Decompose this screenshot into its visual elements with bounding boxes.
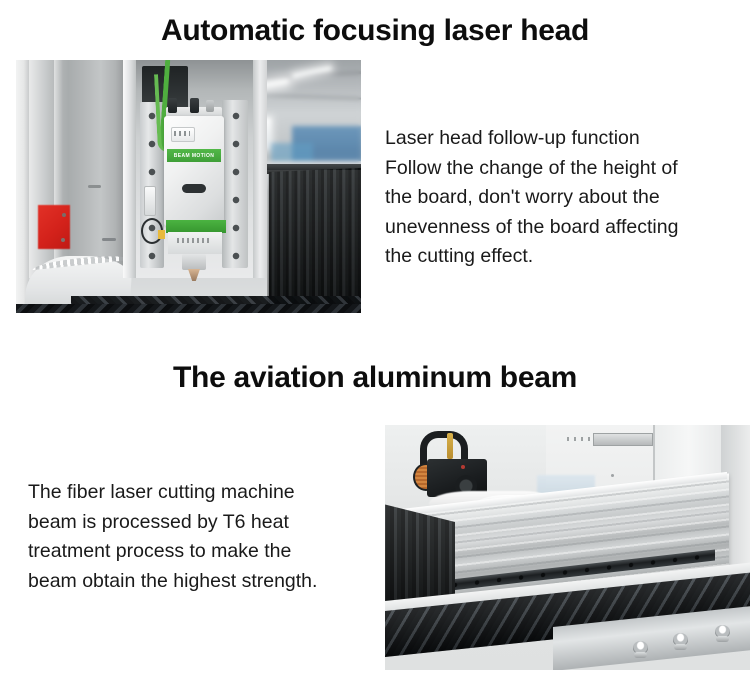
lower-module-marking	[177, 238, 211, 243]
red-panel-screw-bottom	[61, 238, 65, 242]
cabin-frame-left	[123, 60, 136, 278]
brass-guide-tube	[447, 433, 453, 459]
nozzle-collar	[182, 254, 206, 270]
laser-head-vent-slot	[182, 184, 206, 193]
yellow-terminal	[158, 230, 165, 239]
slat-bed	[16, 304, 361, 313]
cable-connector-left	[168, 98, 177, 113]
indicator-light	[461, 465, 465, 469]
carriage-bolt-row	[567, 437, 591, 441]
laser-head-lower-module	[168, 232, 222, 254]
beam-carriage-plate	[593, 433, 653, 446]
beam-motion-label-text: BEAM MOTION	[174, 153, 215, 159]
cover-latch-upper	[88, 185, 101, 188]
air-fitting	[206, 100, 214, 112]
bed-support-bolt-2	[673, 633, 688, 646]
laser-head-photo: BEAM MOTION	[16, 60, 361, 313]
laser-head-description: Laser head follow-up function Follow the…	[385, 124, 735, 272]
height-sensor-module	[144, 186, 156, 216]
page-title-automatic-focusing-laser-head: Automatic focusing laser head	[0, 14, 750, 48]
red-panel-screw-top	[62, 213, 66, 217]
cover-latch-lower	[102, 238, 116, 241]
nameplate-text-lines	[174, 131, 190, 136]
bed-support-bolt-1	[633, 641, 648, 654]
aluminum-beam-description: The fiber laser cutting machine beam is …	[28, 478, 368, 596]
cabin-frame-right	[253, 60, 267, 278]
aluminum-beam-photo	[385, 425, 750, 670]
bed-support-bolt-3	[715, 625, 730, 638]
beam-motion-label: BEAM MOTION	[167, 149, 221, 162]
bellows-shading	[267, 170, 361, 310]
machine-edge-panel	[16, 60, 29, 313]
red-access-panel	[38, 205, 70, 249]
cable-connector-right	[190, 98, 199, 113]
page-title-aviation-aluminum-beam: The aviation aluminum beam	[0, 361, 750, 395]
slide-plate-right-bolt-holes	[232, 112, 240, 262]
